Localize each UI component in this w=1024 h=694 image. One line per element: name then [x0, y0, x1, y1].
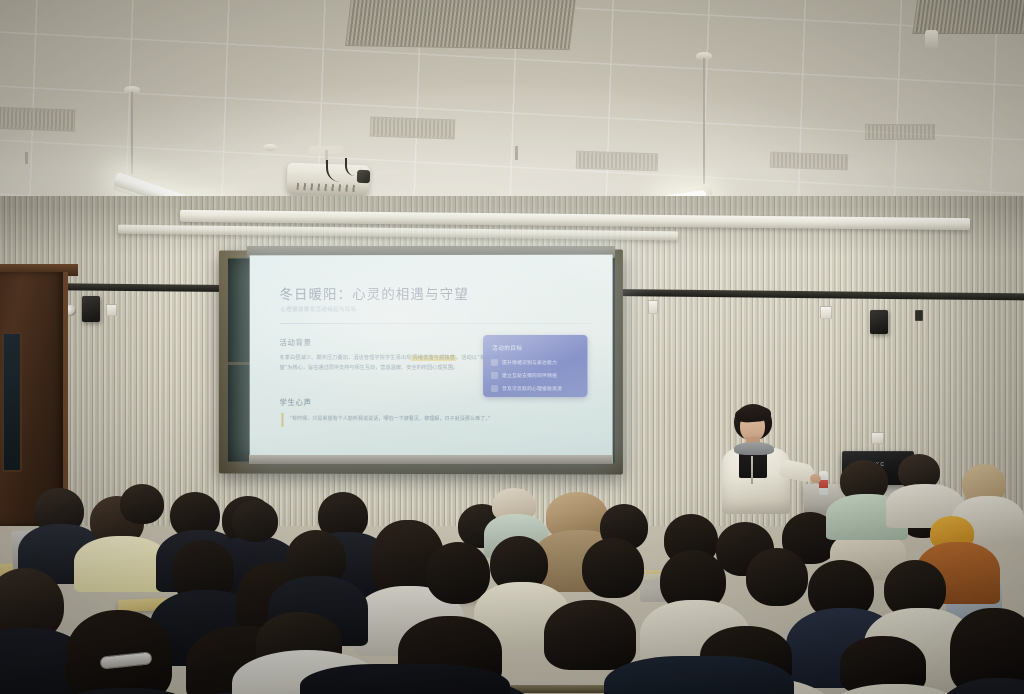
- presentation-slide: 冬日暖阳：心灵的相遇与守望 心理健康教育活动缘起与目标 活动背景 冬季白昼减少、…: [250, 255, 613, 464]
- ceiling-stub: [515, 146, 518, 160]
- air-vent: [770, 152, 849, 171]
- slide-goals-title: 活动的目标: [492, 344, 523, 352]
- student-torso: [604, 656, 794, 694]
- wall-outlet: [106, 304, 117, 316]
- projector-lens: [357, 170, 370, 183]
- slide-goals-card: 活动的目标 提升情绪识别与表达能力 建立互助支撑的同伴网络 普及可近取的心理援助…: [483, 335, 587, 397]
- air-vent: [865, 124, 935, 140]
- slide-divider: [279, 323, 591, 324]
- slide-student-quote: “有时候，只是希望有个人能听我说说话，哪怕一下被看见、被理解，日子就没那么难了。…: [281, 413, 496, 427]
- wall-speaker-left: [82, 296, 100, 322]
- slide-section-heading-background: 活动背景: [279, 337, 311, 348]
- slide-goal-label: 提升情绪识别与表达能力: [502, 360, 557, 366]
- slide-goal-label: 建立互助支撑的同伴网络: [502, 373, 557, 379]
- classroom-photo: 冬日暖阳：心灵的相遇与守望 心理健康教育活动缘起与目标 活动背景 冬季白昼减少、…: [0, 0, 1024, 694]
- projection-screen: 冬日暖阳：心灵的相遇与守望 心理健康教育活动缘起与目标 活动背景 冬季白昼减少、…: [250, 255, 613, 464]
- target-icon: [491, 359, 498, 366]
- ceiling-stub: [25, 152, 28, 164]
- slide-body-text-before: 冬季白昼减少、期末压力叠加，酒店管理学院学生易出现: [279, 355, 411, 361]
- air-vent: [345, 0, 576, 50]
- slide-title: 冬日暖阳：心灵的相遇与守望: [279, 283, 468, 303]
- wall-outlet: [915, 310, 923, 321]
- student-head: [120, 484, 164, 524]
- student-head: [66, 610, 172, 694]
- slide-highlighted-phrase: 情绪低落与孤独感: [411, 355, 455, 361]
- network-icon: [491, 372, 498, 379]
- light-hanger-rod: [131, 92, 133, 174]
- air-vent: [0, 106, 75, 131]
- light-ceiling-mount: [263, 144, 277, 151]
- wall-outlet: [820, 306, 832, 319]
- slide-goal-item: 提升情绪识别与表达能力: [491, 359, 557, 366]
- slide-goal-item: 建立互助支撑的同伴网络: [491, 372, 557, 379]
- student-head: [746, 548, 808, 606]
- air-vent: [912, 0, 1024, 34]
- slide-section-heading-voices: 学生心声: [279, 397, 311, 408]
- slide-body-paragraph: 冬季白昼减少、期末压力叠加，酒店管理学院学生易出现情绪低落与孤独感。活动以“有感…: [279, 353, 501, 373]
- student-torso: [300, 664, 510, 694]
- student-head: [426, 542, 490, 604]
- smoke-detector: [925, 30, 938, 48]
- student-head: [582, 538, 644, 598]
- wall-speaker-right: [870, 310, 888, 334]
- air-vent: [576, 151, 659, 172]
- resource-icon: [491, 385, 498, 392]
- student-head: [232, 500, 278, 542]
- air-vent: [370, 117, 456, 140]
- slide-goal-item: 普及可近取的心理援助资源: [491, 385, 562, 392]
- slide-subtitle: 心理健康教育活动缘起与目标: [280, 305, 356, 313]
- slide-goal-label: 普及可近取的心理援助资源: [502, 386, 562, 392]
- light-hanger-rod: [703, 58, 705, 188]
- student-audience: [0, 440, 1024, 694]
- wall-outlet: [648, 300, 658, 314]
